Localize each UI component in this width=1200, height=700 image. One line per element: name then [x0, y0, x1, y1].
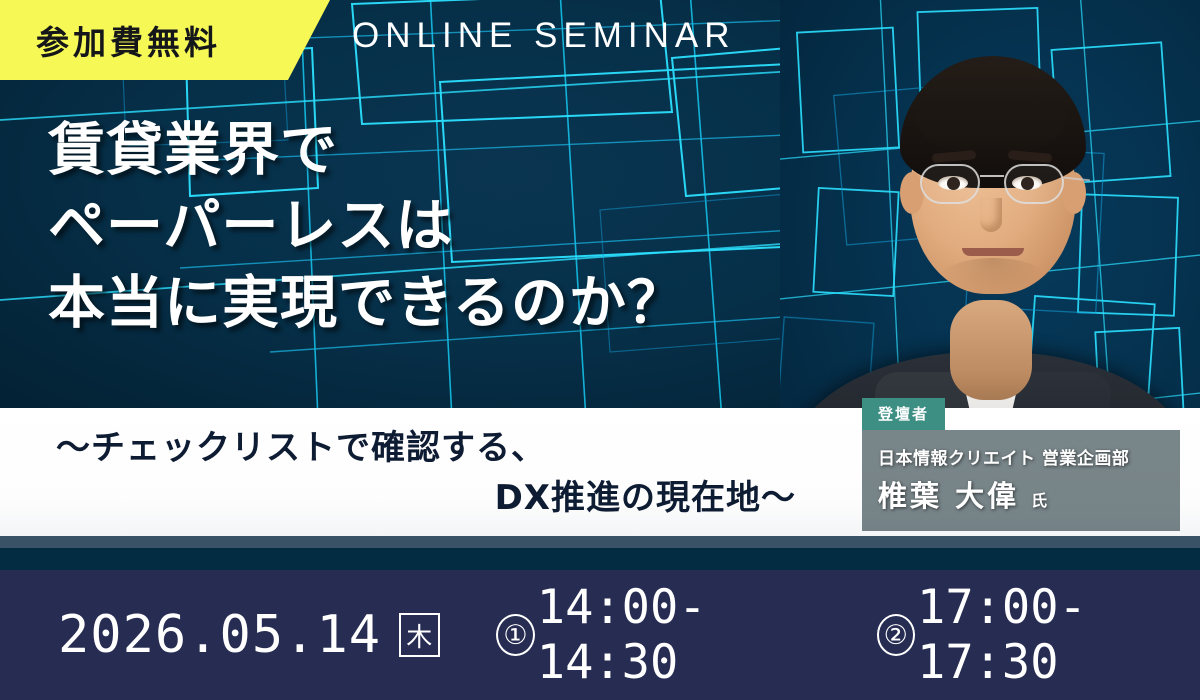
speaker-name: 椎葉 大偉	[878, 473, 1019, 515]
day-of-week-box: 木	[399, 613, 439, 657]
speaker-organization: 日本情報クリエイト 営業企画部	[878, 444, 1166, 469]
page-title: 賃貸業界で ペーパーレスは 本当に実現できるのか？	[48, 112, 848, 341]
subtitle-line-1: ～チェックリストで確認する、	[56, 424, 816, 474]
session-1-number: ①	[496, 614, 535, 656]
glasses-lens-left	[920, 164, 980, 204]
free-admission-label: 参加費無料	[36, 16, 221, 64]
session-1: ① 14:00-14:30	[496, 580, 820, 690]
title-line-2: ペーパーレスは	[48, 188, 848, 264]
speaker-name-row: 椎葉 大偉 氏	[878, 473, 1166, 515]
title-line-1: 賃貸業界で	[48, 112, 848, 188]
title-line-3: 本当に実現できるのか？	[48, 265, 848, 341]
speaker-card: 登壇者 日本情報クリエイト 営業企画部 椎葉 大偉 氏	[862, 398, 1180, 531]
free-admission-badge: 参加費無料	[0, 0, 330, 80]
event-date: 2026.05.14	[58, 605, 381, 665]
session-1-time: 14:00-14:30	[537, 580, 820, 690]
person-chin-shadow	[940, 258, 1046, 298]
schedule-bar: 2026.05.14 木 ① 14:00-14:30 ② 17:00-17:30	[0, 570, 1200, 700]
session-2-time: 17:00-17:30	[917, 580, 1200, 690]
session-2: ② 17:00-17:30	[877, 580, 1200, 690]
schedule-inner: 2026.05.14 木 ① 14:00-14:30 ② 17:00-17:30	[58, 580, 1200, 690]
divider-strip-teal	[0, 548, 1200, 570]
subtitle-text: ～チェックリストで確認する、 DX推進の現在地～	[56, 424, 816, 523]
divider-strip-slate	[0, 536, 1200, 548]
person-neck	[950, 300, 1032, 400]
glasses-bridge	[980, 175, 1004, 177]
speaker-details: 日本情報クリエイト 営業企画部 椎葉 大偉 氏	[862, 430, 1180, 531]
speaker-badge: 登壇者	[862, 398, 945, 430]
glasses-lens-right	[1004, 164, 1064, 204]
session-2-number: ②	[877, 614, 916, 656]
person-nose	[980, 198, 1002, 232]
online-seminar-label: ONLINE SEMINAR	[352, 16, 736, 56]
subtitle-line-2: DX推進の現在地～	[56, 474, 816, 524]
person-mouth	[962, 248, 1024, 256]
speaker-honorific: 氏	[1031, 487, 1047, 511]
seminar-banner: 参加費無料 ONLINE SEMINAR 賃貸業界で ペーパーレスは 本当に実現…	[0, 0, 1200, 700]
